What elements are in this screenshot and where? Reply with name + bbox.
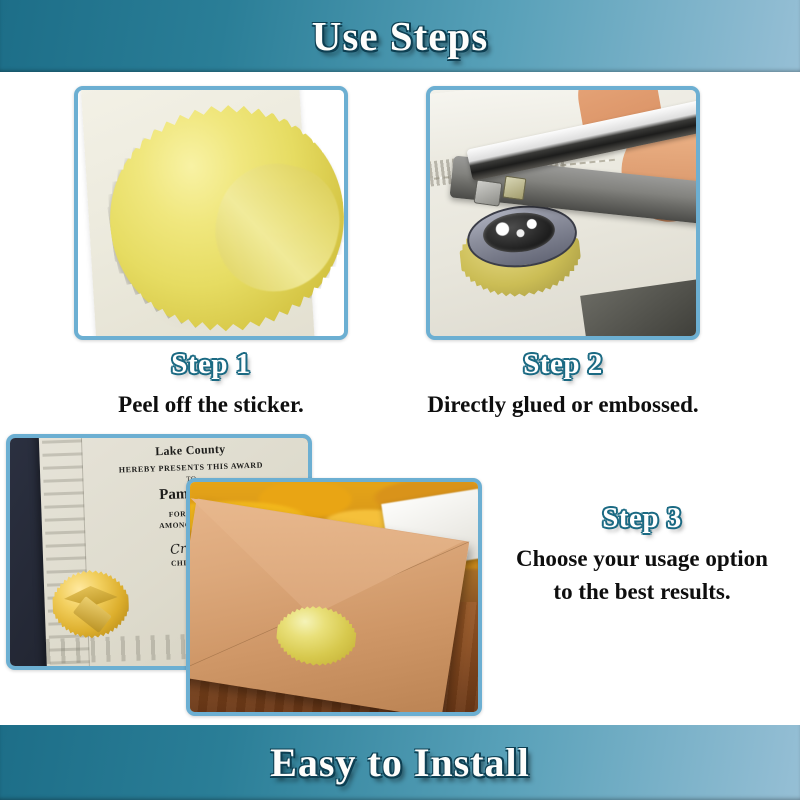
envelope-photo — [190, 482, 478, 712]
step2-heading: Step 2 — [414, 348, 712, 381]
top-banner: Use Steps — [0, 0, 800, 72]
page-title: Use Steps — [312, 12, 488, 60]
step2-photo — [430, 90, 696, 336]
footer-title: Easy to Install — [270, 739, 530, 786]
step1-photo-panel — [74, 86, 348, 340]
step3-caption: Step 3 Choose your usage option to the b… — [492, 502, 792, 607]
step1-description: Peel off the sticker. — [74, 389, 348, 420]
step3-envelope-photo-panel — [186, 478, 482, 716]
step2-caption: Step 2 Directly glued or embossed. — [414, 348, 712, 420]
bottom-banner: Easy to Install — [0, 725, 800, 800]
embosser-hinge-screw — [503, 176, 526, 200]
step3-description-line1: Choose your usage option — [492, 543, 792, 574]
step2-photo-panel — [426, 86, 700, 340]
step2-description: Directly glued or embossed. — [414, 389, 712, 420]
step1-photo — [78, 90, 344, 336]
step3-heading: Step 3 — [492, 502, 792, 535]
embosser-hinge-bolt — [474, 179, 503, 207]
step3-description-line2: to the best results. — [492, 576, 792, 607]
step1-caption: Step 1 Peel off the sticker. — [74, 348, 348, 420]
step1-heading: Step 1 — [74, 348, 348, 381]
